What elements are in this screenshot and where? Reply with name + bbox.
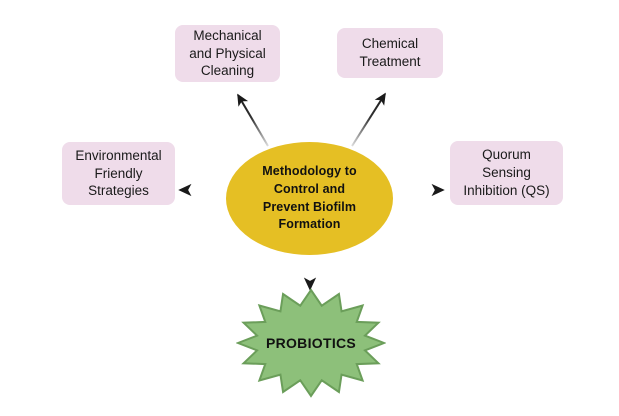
node-label-mechanical-and-physical-cleaning: Mechanicaland PhysicalCleaning	[181, 27, 274, 80]
diagram-canvas: Mechanicaland PhysicalCleaning ChemicalT…	[0, 0, 619, 416]
arrow-to-mechanical-and-physical-cleaning	[238, 95, 268, 146]
node-environmental-friendly-strategies[interactable]: EnvironmentalFriendlyStrategies	[62, 142, 175, 205]
star-burst-icon	[236, 288, 386, 398]
arrow-to-chemical-treatment	[352, 94, 385, 146]
node-label-quorum-sensing-inhibition: QuorumSensingInhibition (QS)	[456, 146, 557, 199]
node-label-environmental-friendly-strategies: EnvironmentalFriendlyStrategies	[68, 147, 169, 200]
node-quorum-sensing-inhibition[interactable]: QuorumSensingInhibition (QS)	[450, 141, 563, 205]
node-mechanical-and-physical-cleaning[interactable]: Mechanicaland PhysicalCleaning	[175, 25, 280, 82]
node-center-methodology[interactable]: Methodology toControl andPrevent Biofilm…	[226, 142, 393, 255]
node-label-chemical-treatment: ChemicalTreatment	[343, 35, 437, 71]
node-chemical-treatment[interactable]: ChemicalTreatment	[337, 28, 443, 78]
node-probiotics[interactable]: PROBIOTICS	[236, 288, 386, 398]
node-label-center-methodology: Methodology toControl andPrevent Biofilm…	[262, 163, 356, 234]
